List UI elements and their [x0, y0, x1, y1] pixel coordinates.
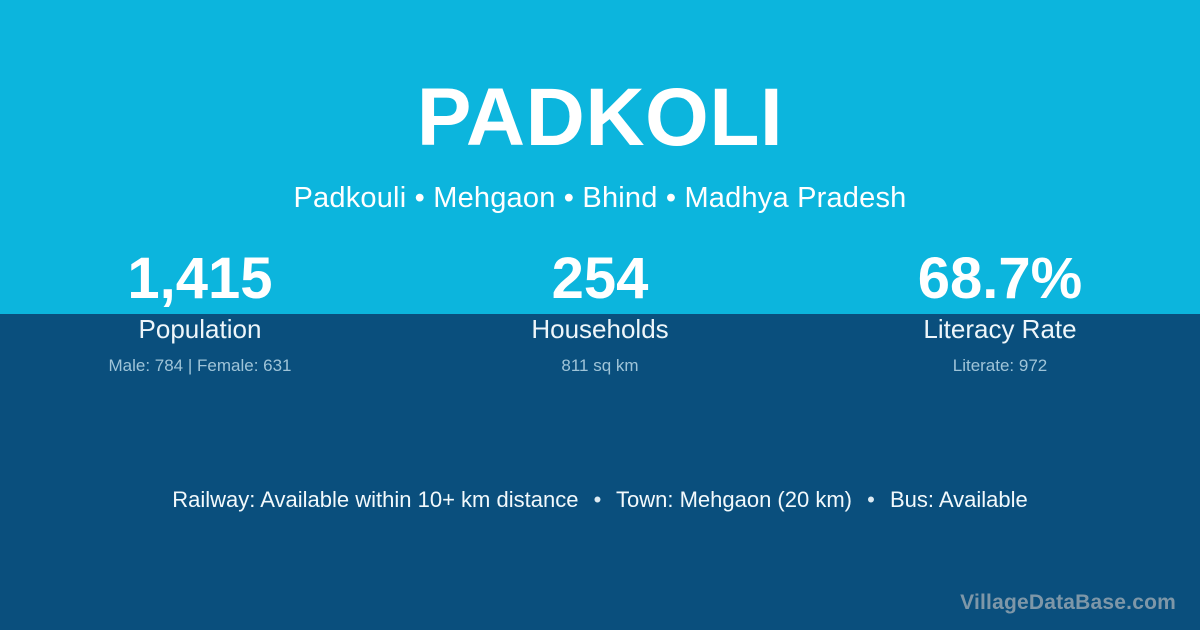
stat-value: 68.7%	[800, 247, 1200, 314]
title-block: PADKOLI Padkouli • Mehgaon • Bhind • Mad…	[0, 0, 1200, 215]
amenities-summary: Railway: Available within 10+ km distanc…	[0, 486, 1200, 514]
amenity-town: Town: Mehgaon (20 km)	[616, 487, 852, 512]
stat-label: Households	[400, 314, 800, 344]
site-watermark: VillageDataBase.com	[960, 590, 1176, 616]
stat-label: Literacy Rate	[800, 314, 1200, 344]
stat-value: 254	[400, 247, 800, 314]
bullet-separator-icon: •	[585, 486, 611, 514]
stats-row: 1,415 Population Male: 784 | Female: 631…	[0, 247, 1200, 376]
breadcrumb: Padkouli • Mehgaon • Bhind • Madhya Prad…	[0, 181, 1200, 215]
stat-label: Population	[0, 314, 400, 344]
stat-detail: Literate: 972	[800, 356, 1200, 376]
stat-detail: 811 sq km	[400, 356, 800, 376]
village-info-card: PADKOLI Padkouli • Mehgaon • Bhind • Mad…	[0, 0, 1200, 630]
amenity-bus: Bus: Available	[890, 487, 1028, 512]
stat-households: 254 Households 811 sq km	[400, 247, 800, 376]
amenity-railway: Railway: Available within 10+ km distanc…	[172, 487, 578, 512]
stat-detail: Male: 784 | Female: 631	[0, 356, 400, 376]
stat-literacy-rate: 68.7% Literacy Rate Literate: 972	[800, 247, 1200, 376]
bullet-separator-icon: •	[858, 486, 884, 514]
stat-population: 1,415 Population Male: 784 | Female: 631	[0, 247, 400, 376]
page-title: PADKOLI	[0, 77, 1200, 159]
stat-value: 1,415	[0, 247, 400, 314]
